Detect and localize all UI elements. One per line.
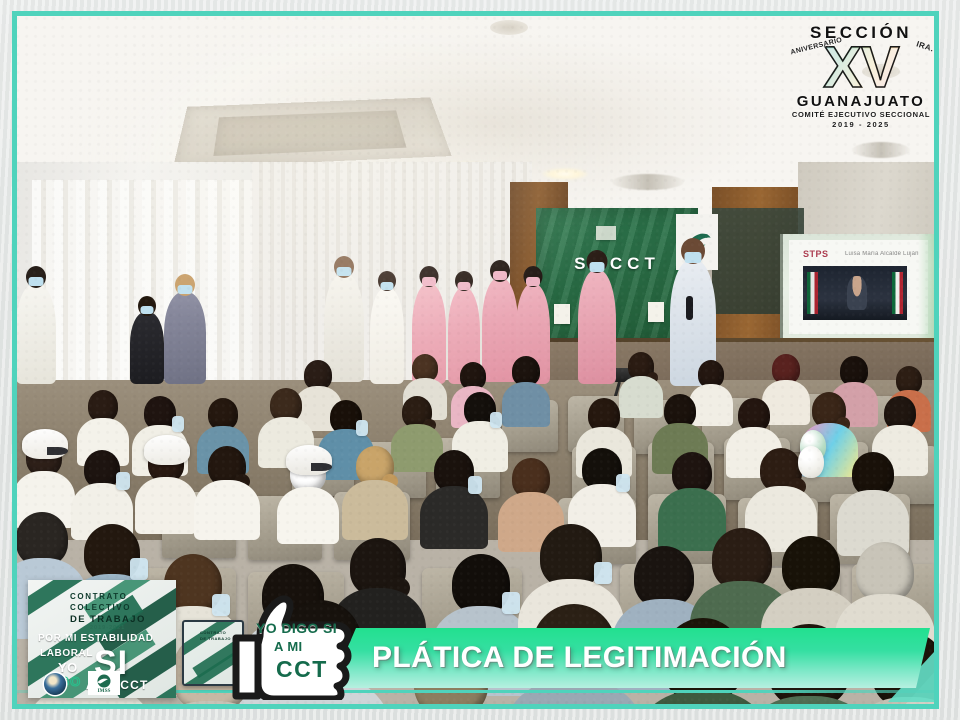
attendee (664, 394, 696, 428)
microphone (686, 296, 693, 320)
frame-border-top (12, 11, 939, 16)
attendee (884, 396, 916, 430)
face-mask (337, 267, 352, 276)
thumbs-up-poster: CONTRATODE TRABAJO YO DIGO SI A MI CCT (182, 592, 354, 700)
shoulders (194, 480, 259, 540)
mexican-flag-icon (892, 272, 903, 314)
poster-line-contrato: CONTRATO (70, 593, 127, 601)
attendee (208, 398, 238, 430)
imss-logo: IMSS (88, 671, 120, 695)
face-mask (458, 282, 471, 290)
union-seal-logo (44, 673, 66, 695)
seccion-xv-guanajuato-logo: SECCIÓN XV ANIVERSARIO IRA. GUANAJUATO C… (786, 24, 936, 136)
face-mask (468, 476, 482, 494)
projection-screen: STPS Luisa María Alcalde Luján (780, 234, 938, 346)
attendee (812, 392, 846, 428)
mini-poster-text: CONTRATODE TRABAJO (200, 630, 231, 642)
attendee (304, 360, 332, 390)
logo-line-years: 2019 - 2025 (786, 121, 936, 129)
attendee (712, 528, 772, 590)
attendee (84, 450, 120, 488)
face-mask (490, 412, 502, 428)
attendee (16, 512, 68, 566)
face-mask (685, 252, 702, 263)
poster-line-years: 2019-2021 (90, 626, 125, 632)
attendee (88, 390, 118, 422)
attendee (840, 356, 868, 386)
backdrop-text: SI CCT (536, 254, 698, 274)
shoulders (619, 376, 664, 418)
face-mask (590, 262, 605, 272)
attendee (512, 458, 550, 498)
white-cap (144, 435, 190, 465)
attendee (896, 366, 922, 394)
thumb-line-2: A MI (274, 639, 303, 654)
attendee (672, 452, 712, 494)
paper-sheet (648, 302, 664, 322)
attendee (782, 536, 840, 596)
face-mask (502, 592, 520, 614)
poster-line-por-mi-estabilidad: POR MI ESTABILIDAD (38, 634, 154, 644)
face-mask (493, 271, 507, 280)
stps-logo-text: STPS (803, 249, 829, 259)
attendee (290, 454, 326, 492)
contrato-colectivo-poster: CONTRATO COLECTIVO DE TRABAJO 2019-2021 … (28, 580, 176, 698)
logo-roman-numeral-wrap: XV ANIVERSARIO IRA. (786, 39, 936, 97)
ceiling-fan (852, 142, 910, 158)
svg-text:IMSS: IMSS (98, 688, 111, 693)
face-mask (172, 416, 184, 432)
attendee (412, 354, 438, 382)
photo-card-canvas: SI CCT STPS Luisa María Alcalde Luján (0, 0, 960, 720)
slide-speaker-name: Luisa María Alcalde Luján (845, 251, 919, 257)
attendee (772, 354, 800, 384)
attendee (634, 546, 694, 608)
poster-line-de-trabajo: DE TRABAJO (70, 615, 146, 625)
face-mask (381, 282, 394, 290)
attendee (270, 388, 302, 422)
attendee (540, 524, 602, 588)
imss-eagle-icon: IMSS (91, 673, 117, 693)
face-mask (616, 474, 630, 492)
face-mask (422, 277, 436, 286)
paper-sheet (554, 304, 570, 324)
thumb-line-3: CCT (276, 656, 328, 683)
shoulders (135, 477, 197, 534)
face-mask (130, 558, 148, 580)
attendee (760, 448, 802, 492)
face-mask (116, 472, 130, 490)
attendee (852, 452, 894, 496)
attendee (460, 362, 486, 390)
frame-border-bottom (12, 704, 939, 709)
face-mask (29, 277, 44, 286)
face-mask (594, 562, 612, 584)
face-mask (178, 285, 193, 294)
attendee (402, 396, 432, 428)
poster-line-yo: YO (58, 661, 78, 674)
page-title: PLÁTICA DE LEGITIMACIÓN (372, 636, 932, 680)
attendee (698, 360, 724, 388)
mexican-flag-icon (807, 272, 818, 314)
attendee (208, 446, 246, 486)
ceiling-fan (612, 174, 684, 190)
attendee (512, 356, 540, 386)
face-mask (526, 277, 540, 286)
thumb-line-1: YO DIGO SI (256, 620, 337, 636)
slide-video (803, 266, 907, 320)
downlight (542, 168, 588, 180)
poster-line-colectivo: COLECTIVO (70, 604, 131, 612)
face-mask (141, 306, 154, 314)
balloon (798, 446, 824, 478)
ceiling-vent (490, 20, 528, 35)
attendee (350, 538, 406, 596)
attendee (628, 352, 654, 380)
attendee (856, 542, 914, 602)
shoulders (342, 480, 407, 540)
poster-line-laboral: LABORAL (40, 649, 93, 659)
paper-sheet (596, 226, 616, 240)
face-mask (356, 420, 368, 436)
attendee (588, 398, 620, 432)
shoulders (502, 382, 550, 427)
projection-slide: STPS Luisa María Alcalde Luján (789, 240, 928, 334)
speaker-figure (847, 276, 867, 310)
logo-line-committee: COMITÉ EJECUTIVO SECCIONAL (786, 111, 936, 119)
attendee (26, 438, 62, 476)
shoulders (277, 487, 339, 544)
shoulders (420, 486, 489, 549)
attendee (356, 446, 394, 486)
frame-border-left (12, 11, 17, 709)
attendee (148, 444, 184, 482)
attendee (738, 398, 770, 432)
